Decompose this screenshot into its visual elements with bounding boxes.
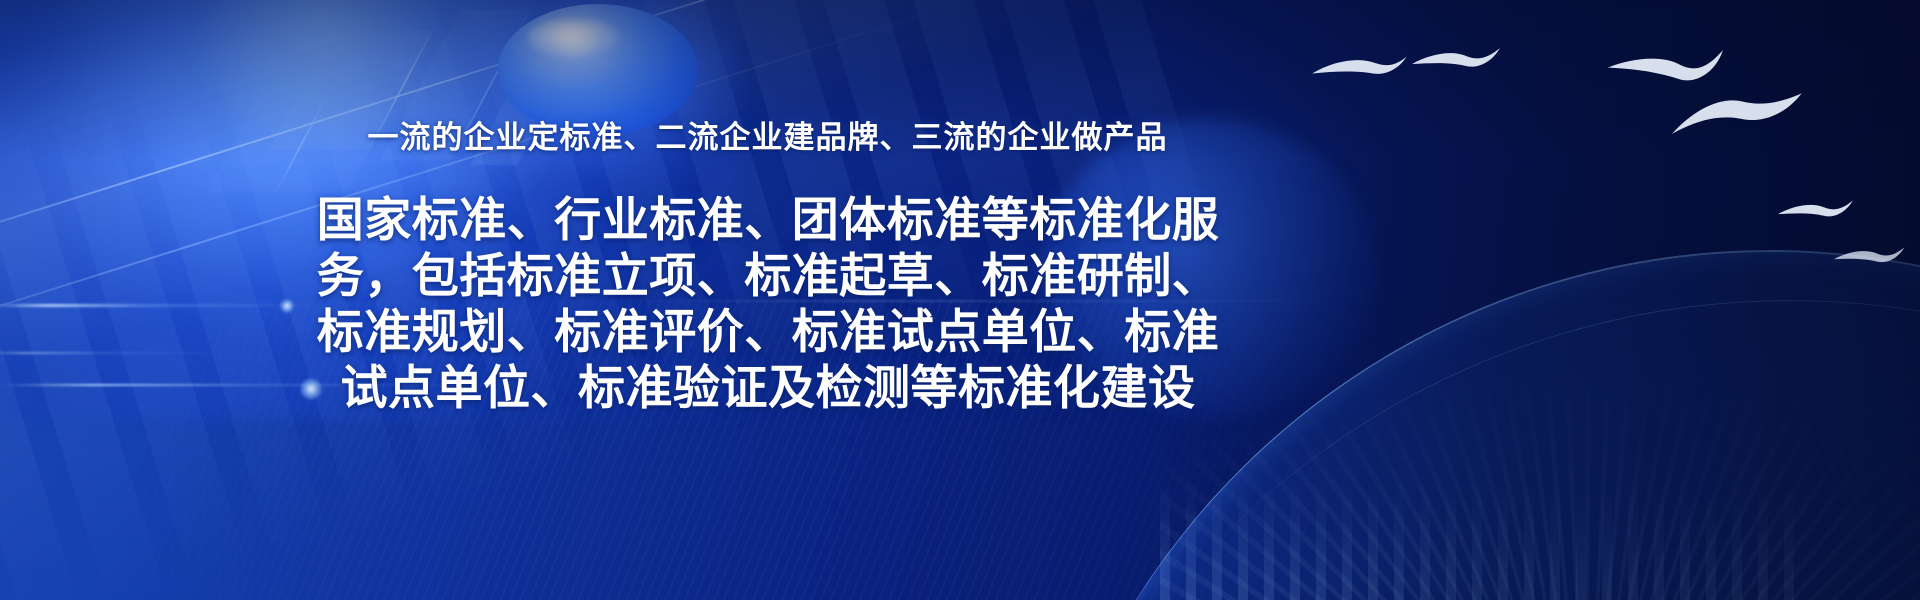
sphere-highlight — [528, 18, 620, 58]
light-streak-3 — [0, 352, 240, 354]
seagull-icon — [1312, 57, 1407, 74]
seagull-icon — [1778, 201, 1853, 217]
body-line: 国家标准、行业标准、团体标准等标准化服 — [238, 192, 1298, 248]
seagull-icon — [1834, 247, 1904, 262]
blue-sphere-icon — [498, 4, 698, 136]
banner-headline: 一流的企业定标准、二流企业建品牌、三流的企业做产品 — [0, 118, 1535, 158]
body-line: 务，包括标准立项、标准起草、标准研制、 — [238, 248, 1298, 304]
seagull-icon — [1412, 48, 1500, 67]
seagull-icon — [1672, 93, 1802, 133]
seagull-icon — [1608, 50, 1723, 80]
banner-body-copy: 国家标准、行业标准、团体标准等标准化服 务，包括标准立项、标准起草、标准研制、 … — [238, 192, 1298, 416]
grid-bars — [1160, 480, 1800, 600]
body-line: 标准规划、标准评价、标准试点单位、标准 — [238, 304, 1298, 360]
body-line: 试点单位、标准验证及检测等标准化建设 — [238, 360, 1298, 416]
promo-banner: 一流的企业定标准、二流企业建品牌、三流的企业做产品 国家标准、行业标准、团体标准… — [0, 0, 1920, 600]
